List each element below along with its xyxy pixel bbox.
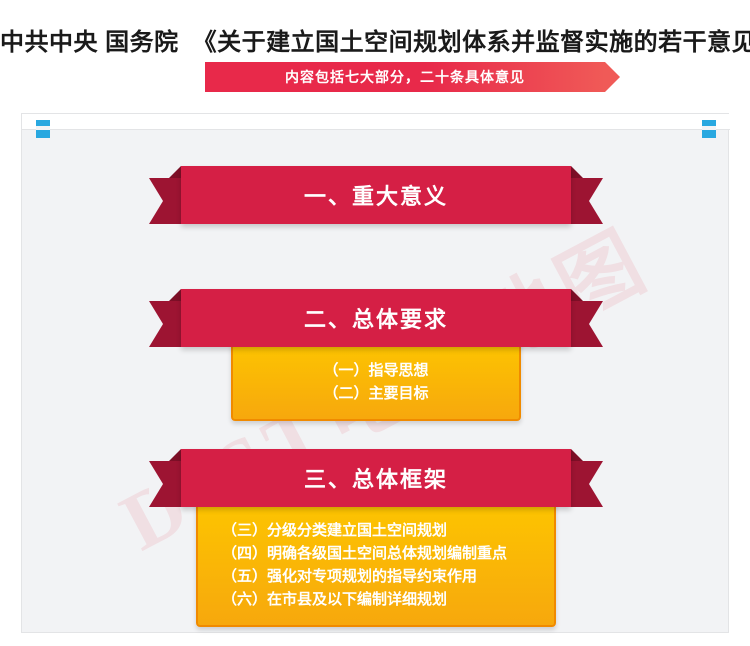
section-2-banner[interactable]: 二、总体要求 bbox=[181, 289, 571, 347]
list-item[interactable]: （二）主要目标 bbox=[257, 382, 495, 405]
subtitle-text: 内容包括七大部分，二十条具体意见 bbox=[205, 62, 605, 92]
subtitle-banner: 内容包括七大部分，二十条具体意见 bbox=[0, 62, 750, 92]
section-1-title: 一、重大意义 bbox=[304, 179, 448, 211]
pin-right-icon bbox=[702, 120, 716, 138]
ribbon-body: 二、总体要求 bbox=[181, 289, 571, 347]
section-2-items: （一）指导思想 （二）主要目标 bbox=[231, 339, 521, 421]
ribbon-fold-left bbox=[169, 449, 181, 461]
section-3: 三、总体框架 （三）分级分类建立国土空间规划 （四）明确各级国土空间总体规划编制… bbox=[22, 449, 730, 627]
section-3-banner[interactable]: 三、总体框架 bbox=[181, 449, 571, 507]
list-item[interactable]: （三）分级分类建立国土空间规划 bbox=[222, 519, 530, 542]
section-1-banner[interactable]: 一、重大意义 bbox=[181, 166, 571, 224]
ribbon-fold-right bbox=[571, 449, 583, 461]
list-item[interactable]: （四）明确各级国土空间总体规划编制重点 bbox=[222, 542, 530, 565]
content-board: DIST电子地图 一、重大意义 二、总体要求 （一）指导思想 （二）主要目标 bbox=[21, 113, 729, 633]
section-2: 二、总体要求 （一）指导思想 （二）主要目标 bbox=[22, 289, 730, 421]
pin-left-icon bbox=[36, 120, 50, 138]
list-item[interactable]: （六）在市县及以下编制详细规划 bbox=[222, 588, 530, 611]
section-3-items: （三）分级分类建立国土空间规划 （四）明确各级国土空间总体规划编制重点 （五）强… bbox=[196, 499, 556, 627]
page-header: 中共中央 国务院《关于建立国土空间规划体系并监督实施的若干意见》 内容包括七大部… bbox=[0, 0, 750, 100]
page-title: 中共中央 国务院《关于建立国土空间规划体系并监督实施的若干意见》 bbox=[0, 22, 750, 57]
page-title-document: 《关于建立国土空间规划体系并监督实施的若干意见》 bbox=[193, 29, 750, 56]
section-1: 一、重大意义 bbox=[22, 166, 730, 224]
ribbon-fold-left bbox=[169, 166, 181, 178]
list-item[interactable]: （五）强化对专项规划的指导约束作用 bbox=[222, 565, 530, 588]
subtitle-banner-shape: 内容包括七大部分，二十条具体意见 bbox=[205, 62, 605, 92]
ribbon-fold-right bbox=[571, 289, 583, 301]
ribbon-fold-left bbox=[169, 289, 181, 301]
ribbon-fold-right bbox=[571, 166, 583, 178]
list-item[interactable]: （一）指导思想 bbox=[257, 359, 495, 382]
ribbon-body: 一、重大意义 bbox=[181, 166, 571, 224]
ribbon-body: 三、总体框架 bbox=[181, 449, 571, 507]
page-title-issuer: 中共中央 国务院 bbox=[0, 29, 179, 56]
section-2-title: 二、总体要求 bbox=[304, 302, 448, 334]
board-top-strip bbox=[22, 114, 730, 130]
section-3-title: 三、总体框架 bbox=[304, 462, 448, 494]
